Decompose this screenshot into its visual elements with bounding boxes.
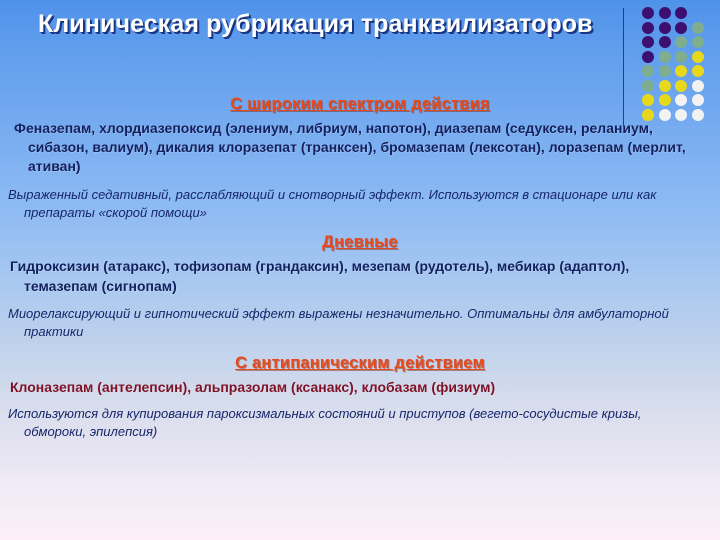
section-heading: Дневные [0, 222, 720, 257]
section-heading: С широким спектром действия [0, 92, 720, 119]
slide-content: С широким спектром действия Феназепам, х… [0, 92, 720, 441]
deco-dot [642, 51, 654, 63]
section-daytime: Дневные Гидроксизин (атаракс), тофизопам… [0, 222, 720, 340]
deco-dot [675, 51, 687, 63]
deco-dot [675, 80, 687, 92]
section-note: Миорелаксирующий и гипнотический эффект … [0, 296, 720, 341]
deco-dot [642, 80, 654, 92]
deco-dot [692, 36, 704, 48]
deco-dot [659, 65, 671, 77]
section-broad-spectrum: С широким спектром действия Феназепам, х… [0, 92, 720, 222]
section-body: Феназепам, хлордиазепоксид (элениум, либ… [0, 119, 720, 176]
deco-dot [642, 36, 654, 48]
deco-dot [675, 36, 687, 48]
deco-dot [675, 7, 687, 19]
section-heading: С антипаническим действием [0, 341, 720, 378]
deco-dot [692, 80, 704, 92]
slide-title: Клиническая рубрикация транквилизаторов [38, 9, 598, 40]
section-body: Гидроксизин (атаракс), тофизопам (гранда… [0, 257, 720, 295]
presentation-slide: Клиническая рубрикация транквилизаторов … [0, 0, 720, 540]
deco-dot [692, 22, 704, 34]
deco-dot [659, 7, 671, 19]
deco-dot [659, 36, 671, 48]
deco-dot [675, 22, 687, 34]
deco-dot [659, 22, 671, 34]
deco-dot [675, 65, 687, 77]
deco-dot [659, 80, 671, 92]
section-note: Используются для купирования пароксизмал… [0, 397, 720, 441]
deco-dot [642, 7, 654, 19]
deco-dot [642, 22, 654, 34]
section-antipanic: С антипаническим действием Клоназепам (а… [0, 341, 720, 441]
deco-dot [692, 51, 704, 63]
deco-dot [659, 51, 671, 63]
section-body: Клоназепам (антелепсин), альпразолам (кс… [0, 378, 720, 397]
deco-dot [642, 65, 654, 77]
deco-dot [692, 65, 704, 77]
section-note: Выраженный седативный, расслабляющий и с… [0, 176, 720, 222]
